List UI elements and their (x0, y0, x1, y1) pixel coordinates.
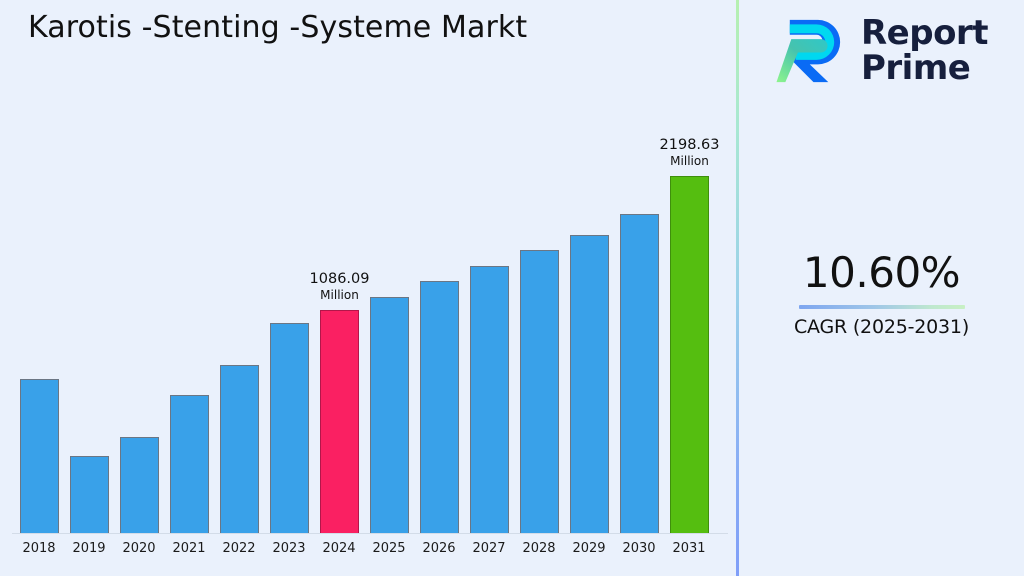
cagr-label: CAGR (2025-2031) (739, 316, 1024, 338)
bar-rect-2029 (570, 235, 609, 533)
bar-2019 (70, 456, 109, 533)
bar-2024: 1086.09Million (320, 310, 359, 533)
bar-value-number-2031: 2198.63 (660, 138, 720, 153)
bar-rect-2027 (470, 266, 509, 533)
bar-2022 (220, 365, 259, 533)
bar-2031: 2198.63Million (670, 176, 709, 533)
bar-rect-2023 (270, 323, 309, 533)
bar-rect-2021 (170, 395, 209, 533)
bar-value-label-2031: 2198.63Million (660, 138, 720, 168)
bar-chart-plot: 2018201920202021202220231086.09Million20… (0, 0, 737, 576)
infographic-root: Karotis -Stenting -Systeme Markt 2018201… (0, 0, 1024, 576)
brand-name-line2: Prime (861, 51, 988, 86)
summary-panel: Report Prime 10.60% CAGR (2025-2031) (739, 0, 1024, 576)
bar-rect-2019 (70, 456, 109, 533)
brand-name: Report Prime (861, 16, 988, 85)
bar-2027 (470, 266, 509, 533)
bar-2021 (170, 395, 209, 533)
bar-rect-2018 (20, 379, 59, 533)
chart-panel: Karotis -Stenting -Systeme Markt 2018201… (0, 0, 737, 576)
bar-2026 (420, 281, 459, 533)
bar-2028 (520, 250, 559, 533)
cagr-block: 10.60% CAGR (2025-2031) (739, 250, 1024, 338)
bar-rect-2028 (520, 250, 559, 533)
x-axis-line (12, 533, 728, 534)
bar-rect-2031 (670, 176, 709, 533)
bar-2029 (570, 235, 609, 533)
bar-value-label-2024: 1086.09Million (310, 272, 370, 302)
bar-rect-2022 (220, 365, 259, 533)
brand-name-line1: Report (861, 16, 988, 51)
bar-rect-2025 (370, 297, 409, 533)
bar-rect-2030 (620, 214, 659, 533)
brand-logo: Report Prime (775, 14, 988, 88)
bar-2023 (270, 323, 309, 533)
bar-rect-2020 (120, 437, 159, 533)
bar-rect-2026 (420, 281, 459, 533)
cagr-divider-rule (799, 305, 965, 309)
bar-2030 (620, 214, 659, 533)
bar-value-unit-2024: Million (310, 289, 370, 302)
bar-value-unit-2031: Million (660, 155, 720, 168)
cagr-value: 10.60% (739, 250, 1024, 296)
bar-rect-2024 (320, 310, 359, 533)
bar-2025 (370, 297, 409, 533)
report-prime-r-logo-icon (775, 14, 849, 88)
bar-2018 (20, 379, 59, 533)
bar-value-number-2024: 1086.09 (310, 272, 370, 287)
bar-2020 (120, 437, 159, 533)
x-axis-tick-2031: 2031 (659, 541, 719, 556)
